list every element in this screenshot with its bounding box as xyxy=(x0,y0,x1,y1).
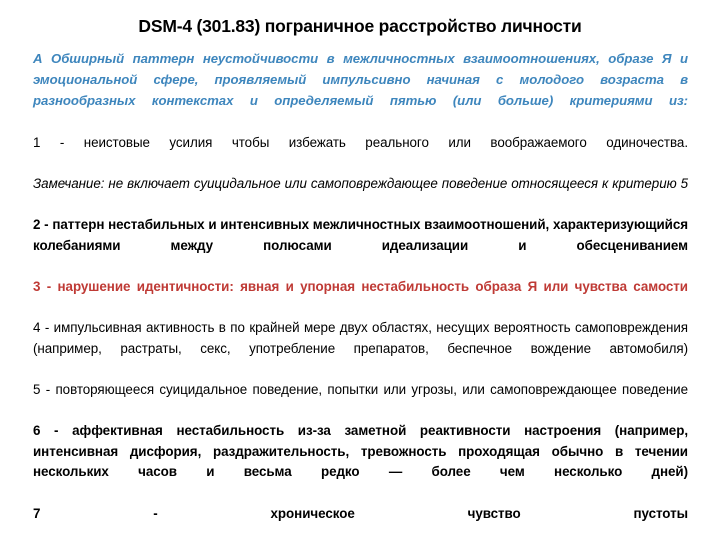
criterion-item: 2 - паттерн нестабильных и интенсивных м… xyxy=(33,215,688,277)
intro-paragraph: А Обширный паттерн неустойчивости в межл… xyxy=(33,48,688,133)
page-title: DSM-4 (301.83) пограничное расстройство … xyxy=(0,16,720,37)
criterion-item: 5 - повторяющееся суицидальное поведение… xyxy=(33,380,688,421)
criterion-item: 1 - неистовые усилия чтобы избежать реал… xyxy=(33,133,688,174)
slide-canvas: DSM-4 (301.83) пограничное расстройство … xyxy=(0,0,720,540)
criterion-item: 6 - аффективная нестабильность из-за зам… xyxy=(33,421,688,503)
criterion-item: 7 - хроническое чувство пустоты xyxy=(33,504,688,540)
criteria-list: 1 - неистовые усилия чтобы избежать реал… xyxy=(33,133,688,540)
criterion-note: Замечание: не включает суицидальное или … xyxy=(33,174,688,215)
criterion-item: 4 - импульсивная активность в по крайней… xyxy=(33,318,688,380)
criteria-body: А Обширный паттерн неустойчивости в межл… xyxy=(33,48,688,540)
criterion-item: 3 - нарушение идентичности: явная и упор… xyxy=(33,277,688,318)
